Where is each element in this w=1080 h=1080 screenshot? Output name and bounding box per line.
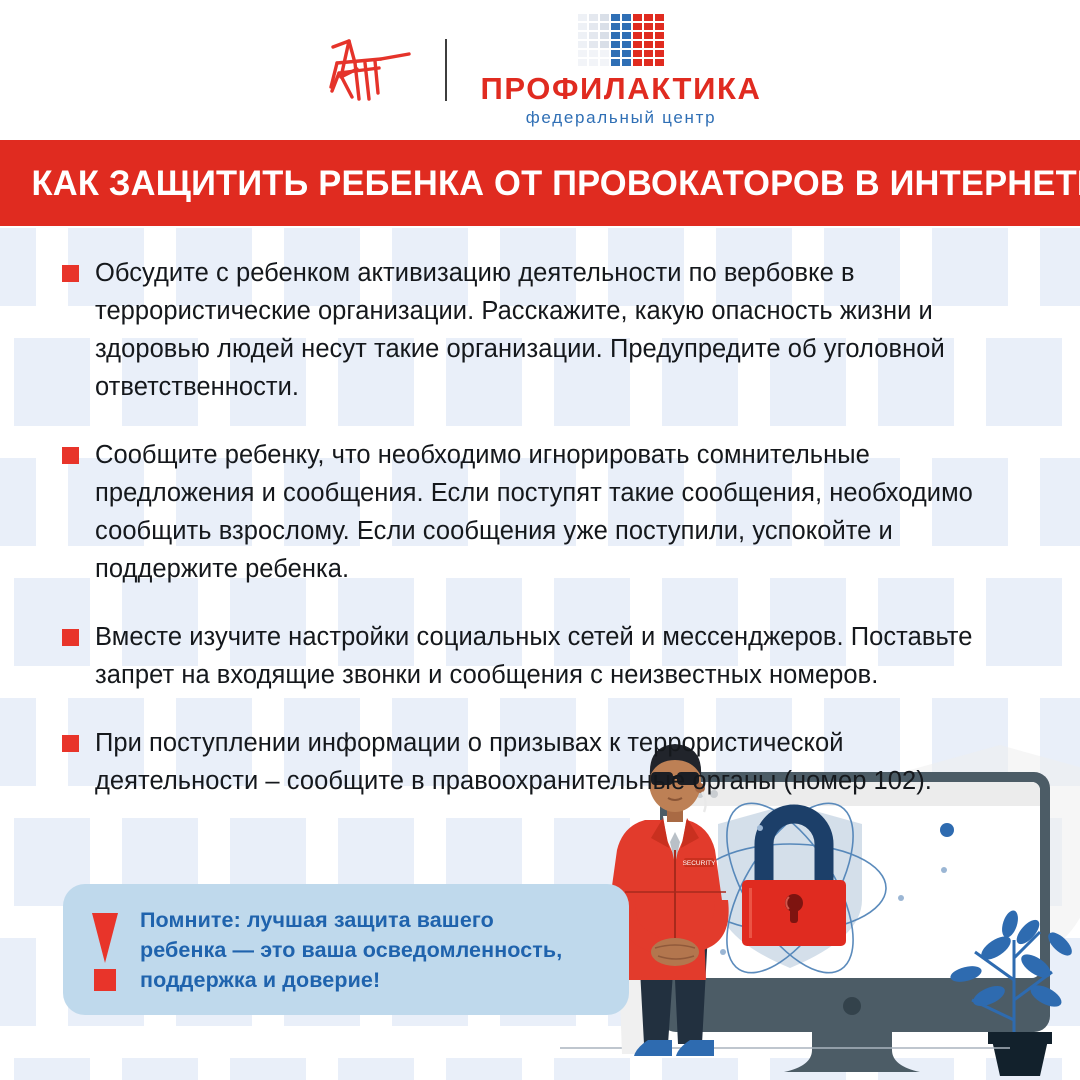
brand-grid-cell xyxy=(600,23,609,30)
brand-subtitle: федеральный центр xyxy=(526,109,716,126)
header: ПРОФИЛАКТИКА федеральный центр xyxy=(0,0,1080,140)
bullet-marker xyxy=(62,735,79,752)
brand-grid-cell xyxy=(655,23,664,30)
brand-grid-cell xyxy=(589,50,598,57)
brand-grid-cell xyxy=(600,14,609,21)
logo-divider xyxy=(445,39,447,101)
bullet-text: Сообщите ребенку, что необходимо игнорир… xyxy=(95,436,1000,588)
brand-grid-cell xyxy=(578,50,587,57)
brand-grid-cell xyxy=(622,14,631,21)
brand-grid-cell xyxy=(611,23,620,30)
brand-grid-cell xyxy=(622,41,631,48)
brand-grid-cell xyxy=(589,41,598,48)
brand-grid-cell xyxy=(578,41,587,48)
brand-grid-cell xyxy=(655,14,664,21)
brand-grid-cell xyxy=(600,50,609,57)
logo-row: ПРОФИЛАКТИКА федеральный центр xyxy=(0,0,1080,140)
brand-grid-cell xyxy=(655,50,664,57)
brand-block: ПРОФИЛАКТИКА федеральный центр xyxy=(481,14,762,126)
bullet-item: При поступлении информации о призывах к … xyxy=(0,724,1080,800)
brand-grid-cell xyxy=(655,59,664,66)
brand-grid-cell xyxy=(611,14,620,21)
brand-grid-cell xyxy=(644,23,653,30)
brand-grid-cell xyxy=(589,14,598,21)
brand-grid-cell xyxy=(644,50,653,57)
brand-grid-cell xyxy=(622,23,631,30)
bullet-item: Обсудите с ребенком активизацию деятельн… xyxy=(0,254,1080,406)
brand-grid-cell xyxy=(644,41,653,48)
brand-grid-cell xyxy=(611,59,620,66)
pixel-grid-icon xyxy=(578,14,664,66)
brand-grid-cell xyxy=(611,41,620,48)
brand-grid-cell xyxy=(600,59,609,66)
brand-grid-cell xyxy=(578,32,587,39)
brand-name: ПРОФИЛАКТИКА xyxy=(481,73,762,104)
callout-box: Помните: лучшая защита вашего ребенка — … xyxy=(63,884,629,1015)
bullet-item: Вместе изучите настройки социальных сете… xyxy=(0,618,1080,694)
brand-grid-cell xyxy=(611,50,620,57)
brand-grid-cell xyxy=(589,59,598,66)
brand-grid-cell xyxy=(611,32,620,39)
infographic-page: ПРОФИЛАКТИКА федеральный центр КАК ЗАЩИТ… xyxy=(0,0,1080,1080)
bullet-item: Сообщите ребенку, что необходимо игнорир… xyxy=(0,436,1080,588)
bullet-text: Обсудите с ребенком активизацию деятельн… xyxy=(95,254,1000,406)
brand-grid-cell xyxy=(633,41,642,48)
brand-grid-cell xyxy=(622,59,631,66)
brand-grid-cell xyxy=(644,32,653,39)
callout-line-3: поддержка и доверие! xyxy=(140,965,562,995)
bullet-text: Вместе изучите настройки социальных сете… xyxy=(95,618,1000,694)
bullet-marker xyxy=(62,447,79,464)
callout-text: Помните: лучшая защита вашего ребенка — … xyxy=(140,905,562,995)
clasped-hands xyxy=(651,938,699,966)
brand-grid-cell xyxy=(655,41,664,48)
brand-grid-cell xyxy=(578,59,587,66)
brand-grid-cell xyxy=(600,41,609,48)
title-band: КАК ЗАЩИТИТЬ РЕБЕНКА ОТ ПРОВОКАТОРОВ В И… xyxy=(0,140,1080,226)
callout-line-1: Помните: лучшая защита вашего xyxy=(140,905,562,935)
brand-grid-cell xyxy=(655,32,664,39)
bullet-marker xyxy=(62,629,79,646)
brand-grid-cell xyxy=(578,14,587,21)
brand-grid-cell xyxy=(633,14,642,21)
brand-grid-cell xyxy=(589,23,598,30)
brand-grid-cell xyxy=(633,32,642,39)
brand-grid-cell xyxy=(633,23,642,30)
chair-logo-icon xyxy=(319,33,415,107)
brand-grid-cell xyxy=(622,32,631,39)
brand-grid-cell xyxy=(644,14,653,21)
brand-grid-cell xyxy=(633,50,642,57)
bullet-text: При поступлении информации о призывах к … xyxy=(95,724,1000,800)
jacket-badge-text: SECURITY xyxy=(683,860,717,867)
exclamation-mark-icon xyxy=(90,913,120,987)
brand-grid-cell xyxy=(622,50,631,57)
bullet-marker xyxy=(62,265,79,282)
callout-line-2: ребенка — это ваша осведомленность, xyxy=(140,935,562,965)
brand-grid-cell xyxy=(589,32,598,39)
brand-grid-cell xyxy=(644,59,653,66)
brand-grid-cell xyxy=(600,32,609,39)
bullet-list: Обсудите с ребенком активизацию деятельн… xyxy=(0,226,1080,830)
brand-grid-cell xyxy=(633,59,642,66)
brand-grid-cell xyxy=(578,23,587,30)
page-title: КАК ЗАЩИТИТЬ РЕБЕНКА ОТ ПРОВОКАТОРОВ В И… xyxy=(0,166,1080,201)
